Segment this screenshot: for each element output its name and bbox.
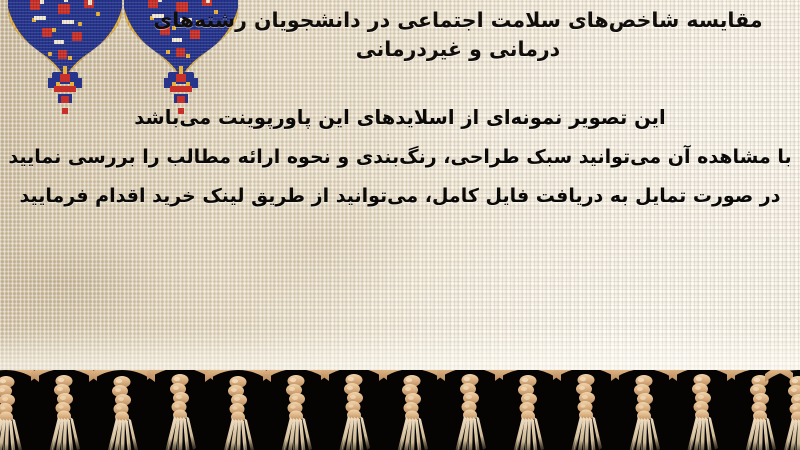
presentation-slide: مقایسه شاخص‌های سلامت اجتماعی در دانشجوی… [0, 0, 800, 450]
title-line-1: مقایسه شاخص‌های سلامت اجتماعی در دانشجوی… [153, 8, 762, 32]
title-line-2: درمانی و غیردرمانی [356, 37, 560, 61]
slide-body: این تصویر نمونه‌ای از اسلایدهای این پاور… [0, 108, 800, 206]
page-title: مقایسه شاخص‌های سلامت اجتماعی در دانشجوی… [138, 6, 778, 64]
carpet-fringe-tassels [0, 370, 800, 450]
body-line-2: با مشاهده آن می‌توانید سبک طراحی، رنگ‌بن… [0, 148, 800, 167]
body-line-1: این تصویر نمونه‌ای از اسلایدهای این پاور… [0, 108, 800, 128]
slide-text-layer: مقایسه شاخص‌های سلامت اجتماعی در دانشجوی… [0, 0, 800, 392]
body-line-3: در صورت تمایل به دریافت فایل کامل، می‌تو… [0, 187, 800, 206]
fringe-graphic [0, 370, 800, 450]
